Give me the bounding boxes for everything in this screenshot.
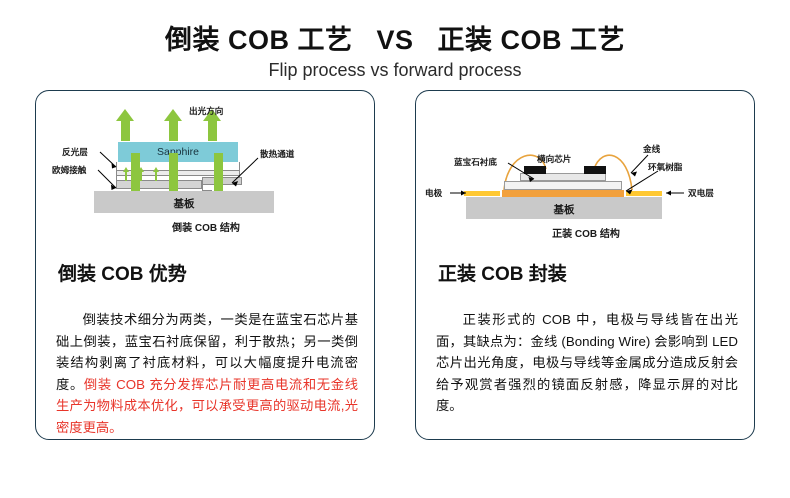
body-text-forward: 正装形式的 COB 中，电极与导线皆在出光面，其缺点为：金线 (Bonding … — [436, 309, 738, 417]
figure-caption-flip: 倒装 COB 结构 — [36, 219, 376, 234]
card-forward-cob: 基板 蓝宝石衬底 横向芯片 金线 环氧树脂 电极 双电层 正装 COB 结构 — [415, 90, 755, 440]
label-electrode: 电极 — [425, 187, 442, 199]
page-root: 倒装 COB 工艺 VS 正装 COB 工艺 Flip process vs f… — [0, 0, 790, 498]
label-double-layer: 双电层 — [688, 187, 714, 199]
page-title: 倒装 COB 工艺 VS 正装 COB 工艺 — [0, 18, 790, 57]
flip-chip-cob-structure-diagram: 出光方向 Sapphire — [36, 91, 376, 241]
label-epoxy-resin: 环氧树脂 — [648, 161, 682, 173]
label-lateral-chip: 横向芯片 — [537, 153, 571, 165]
card-flip-chip-cob: 出光方向 Sapphire — [35, 90, 375, 440]
body-text-flip: 倒装技术细分为两类，一类是在蓝宝石芯片基础上倒装，蓝宝石衬底保留，利于散热；另一… — [56, 309, 358, 438]
label-reflective-layer: 反光层 — [62, 146, 88, 158]
label-gold-wire: 金线 — [643, 143, 660, 155]
body-text-forward-plain: 正装形式的 COB 中，电极与导线皆在出光面，其缺点为：金线 (Bonding … — [436, 312, 738, 413]
figure-caption-forward: 正装 COB 结构 — [416, 225, 756, 240]
section-heading-forward: 正装 COB 封装 — [438, 259, 567, 286]
label-ohmic-contact: 欧姆接触 — [52, 164, 86, 176]
label-sapphire-substrate: 蓝宝石衬底 — [454, 156, 497, 168]
body-text-flip-highlight: 倒装 COB 充分发挥芯片耐更高电流和无金线生产为物料成本优化，可以承受更高的驱… — [56, 377, 358, 435]
section-heading-flip: 倒装 COB 优势 — [58, 259, 187, 286]
forward-cob-structure-diagram: 基板 蓝宝石衬底 横向芯片 金线 环氧树脂 电极 双电层 正装 COB 结构 — [416, 91, 756, 241]
page-subtitle: Flip process vs forward process — [0, 60, 790, 81]
label-heat-channel: 散热通道 — [260, 148, 294, 160]
